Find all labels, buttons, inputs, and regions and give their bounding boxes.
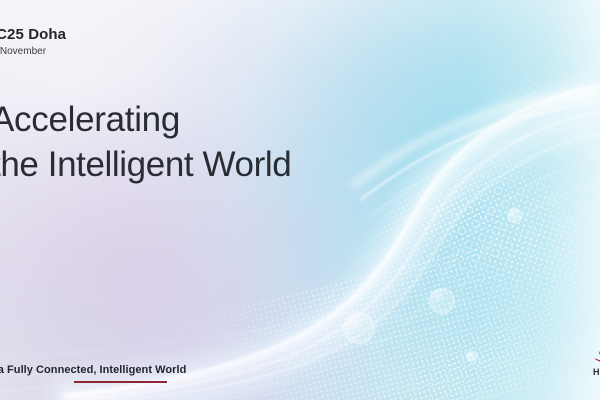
tagline-block: ing a Fully Connected, Intelligent World: [0, 364, 186, 376]
event-identity-block: VC25 Doha 26 November: [0, 26, 66, 58]
mwc-event-banner: VC25 Doha 26 November Accelerating the I…: [0, 0, 600, 400]
bubble-medium: [429, 288, 455, 314]
huawei-flower-logo-icon: [593, 348, 600, 364]
brand-wordmark: HUAWEI: [593, 367, 600, 377]
tagline-underline-rule: [74, 381, 167, 383]
bubble-small: [507, 208, 522, 223]
brand-logo: HUAWEI: [593, 348, 600, 382]
bubble-large: [343, 312, 375, 344]
bubble-tiny: [466, 351, 477, 362]
event-date: 26 November: [0, 46, 66, 58]
tagline-text: ing a Fully Connected, Intelligent World: [0, 364, 186, 376]
headline-line-1: Accelerating: [0, 98, 291, 143]
headline: Accelerating the Intelligent World: [0, 98, 291, 188]
headline-line-2: the Intelligent World: [0, 143, 291, 188]
event-name: VC25 Doha: [0, 26, 66, 43]
